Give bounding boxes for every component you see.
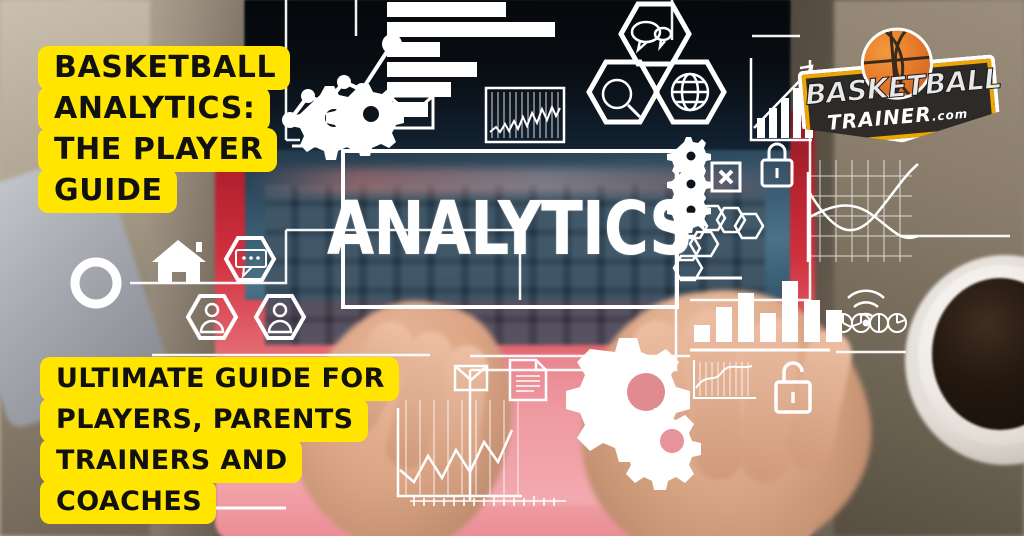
subtitle-line-4: COACHES xyxy=(40,480,216,524)
banner-canvas: ANALYTICS BASKETBALL ANALYTICS: THE PLAY… xyxy=(0,0,1024,536)
zigzag-chart-icon xyxy=(398,400,522,496)
title-line-2: ANALYTICS: xyxy=(38,87,270,131)
subtitle-line-3: TRAINERS AND xyxy=(40,439,302,483)
title-block: BASKETBALL ANALYTICS: THE PLAYER GUIDE xyxy=(38,46,290,210)
lock-closed-icon xyxy=(762,144,792,186)
waveform-chart-icon xyxy=(486,88,564,142)
circle-node-icon xyxy=(75,262,117,304)
home-icon xyxy=(152,240,206,284)
analytics-headline: ANALYTICS xyxy=(327,192,692,266)
title-line-3: THE PLAYER xyxy=(38,128,277,172)
magnifier-icon xyxy=(589,62,657,122)
vertical-bar-chart-icon xyxy=(694,281,842,342)
analytics-screen-box: ANALYTICS xyxy=(341,149,679,309)
logo-brand-tld: .com xyxy=(931,107,969,124)
document-icon xyxy=(510,360,546,400)
person-icon xyxy=(188,296,236,338)
subtitle-line-2: PLAYERS, PARENTS xyxy=(40,398,368,442)
subtitle-block: ULTIMATE GUIDE FOR PLAYERS, PARENTS TRAI… xyxy=(40,357,399,521)
lock-open-icon xyxy=(776,363,810,412)
curve-graph-icon xyxy=(808,160,918,262)
speech-bubbles-icon xyxy=(621,4,689,64)
pie-chart-icon xyxy=(834,314,906,332)
person-icon xyxy=(256,296,304,338)
horizontal-bar-chart-icon xyxy=(388,3,554,116)
brand-logo[interactable]: BASKETBALL TRAINER.com xyxy=(786,16,1001,158)
title-line-1: BASKETBALL xyxy=(38,46,290,90)
chat-dots-icon xyxy=(226,238,274,280)
ruler-scale-icon xyxy=(410,496,566,506)
gear-icon xyxy=(619,408,701,490)
waveform-chart-icon xyxy=(694,360,756,398)
close-x-icon xyxy=(712,163,740,191)
subtitle-line-1: ULTIMATE GUIDE FOR xyxy=(40,357,399,401)
title-line-4: GUIDE xyxy=(38,169,177,213)
globe-icon xyxy=(656,62,724,122)
